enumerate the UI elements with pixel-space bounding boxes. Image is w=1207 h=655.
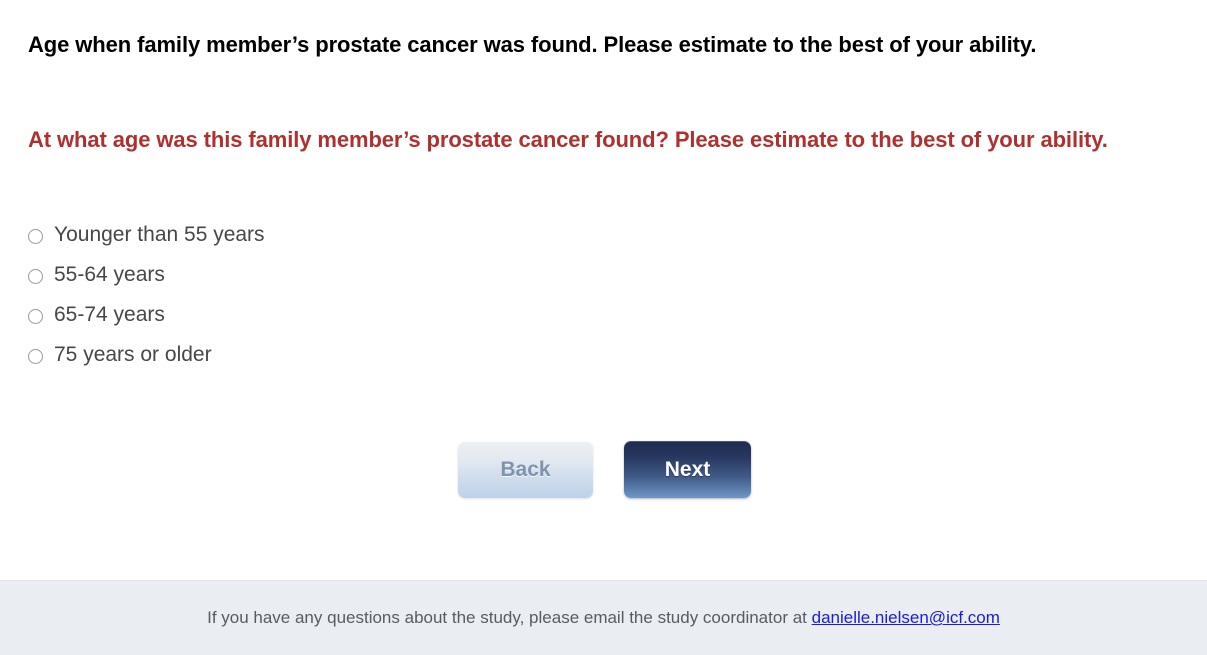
option-label: 75 years or older bbox=[54, 343, 212, 367]
option-label: 55-64 years bbox=[54, 263, 165, 287]
next-button[interactable]: Next bbox=[624, 441, 751, 498]
coordinator-email-link[interactable]: danielle.nielsen@icf.com bbox=[812, 608, 1000, 627]
option-row-65-74[interactable]: 65-74 years bbox=[28, 295, 628, 335]
page-footer: If you have any questions about the stud… bbox=[0, 580, 1207, 655]
survey-page: Age when family member’s prostate cancer… bbox=[0, 0, 1207, 655]
radio-button-icon[interactable] bbox=[28, 309, 43, 324]
page-title: Age when family member’s prostate cancer… bbox=[28, 28, 1173, 61]
option-row-younger-than-55[interactable]: Younger than 55 years bbox=[28, 215, 628, 255]
footer-contact-text: If you have any questions about the stud… bbox=[207, 607, 1000, 629]
footer-text-before: If you have any questions about the stud… bbox=[207, 608, 812, 627]
radio-button-icon[interactable] bbox=[28, 229, 43, 244]
survey-content: Age when family member’s prostate cancer… bbox=[0, 0, 1207, 580]
option-row-75-or-older[interactable]: 75 years or older bbox=[28, 335, 628, 375]
option-label: 65-74 years bbox=[54, 303, 165, 327]
question-prompt: At what age was this family member’s pro… bbox=[28, 124, 1168, 156]
option-label: Younger than 55 years bbox=[54, 223, 265, 247]
radio-button-icon[interactable] bbox=[28, 269, 43, 284]
option-row-55-64[interactable]: 55-64 years bbox=[28, 255, 628, 295]
radio-button-icon[interactable] bbox=[28, 349, 43, 364]
answer-options-list: Younger than 55 years 55-64 years 65-74 … bbox=[28, 215, 628, 375]
navigation-buttons: Back Next bbox=[458, 441, 751, 498]
back-button[interactable]: Back bbox=[458, 441, 593, 498]
